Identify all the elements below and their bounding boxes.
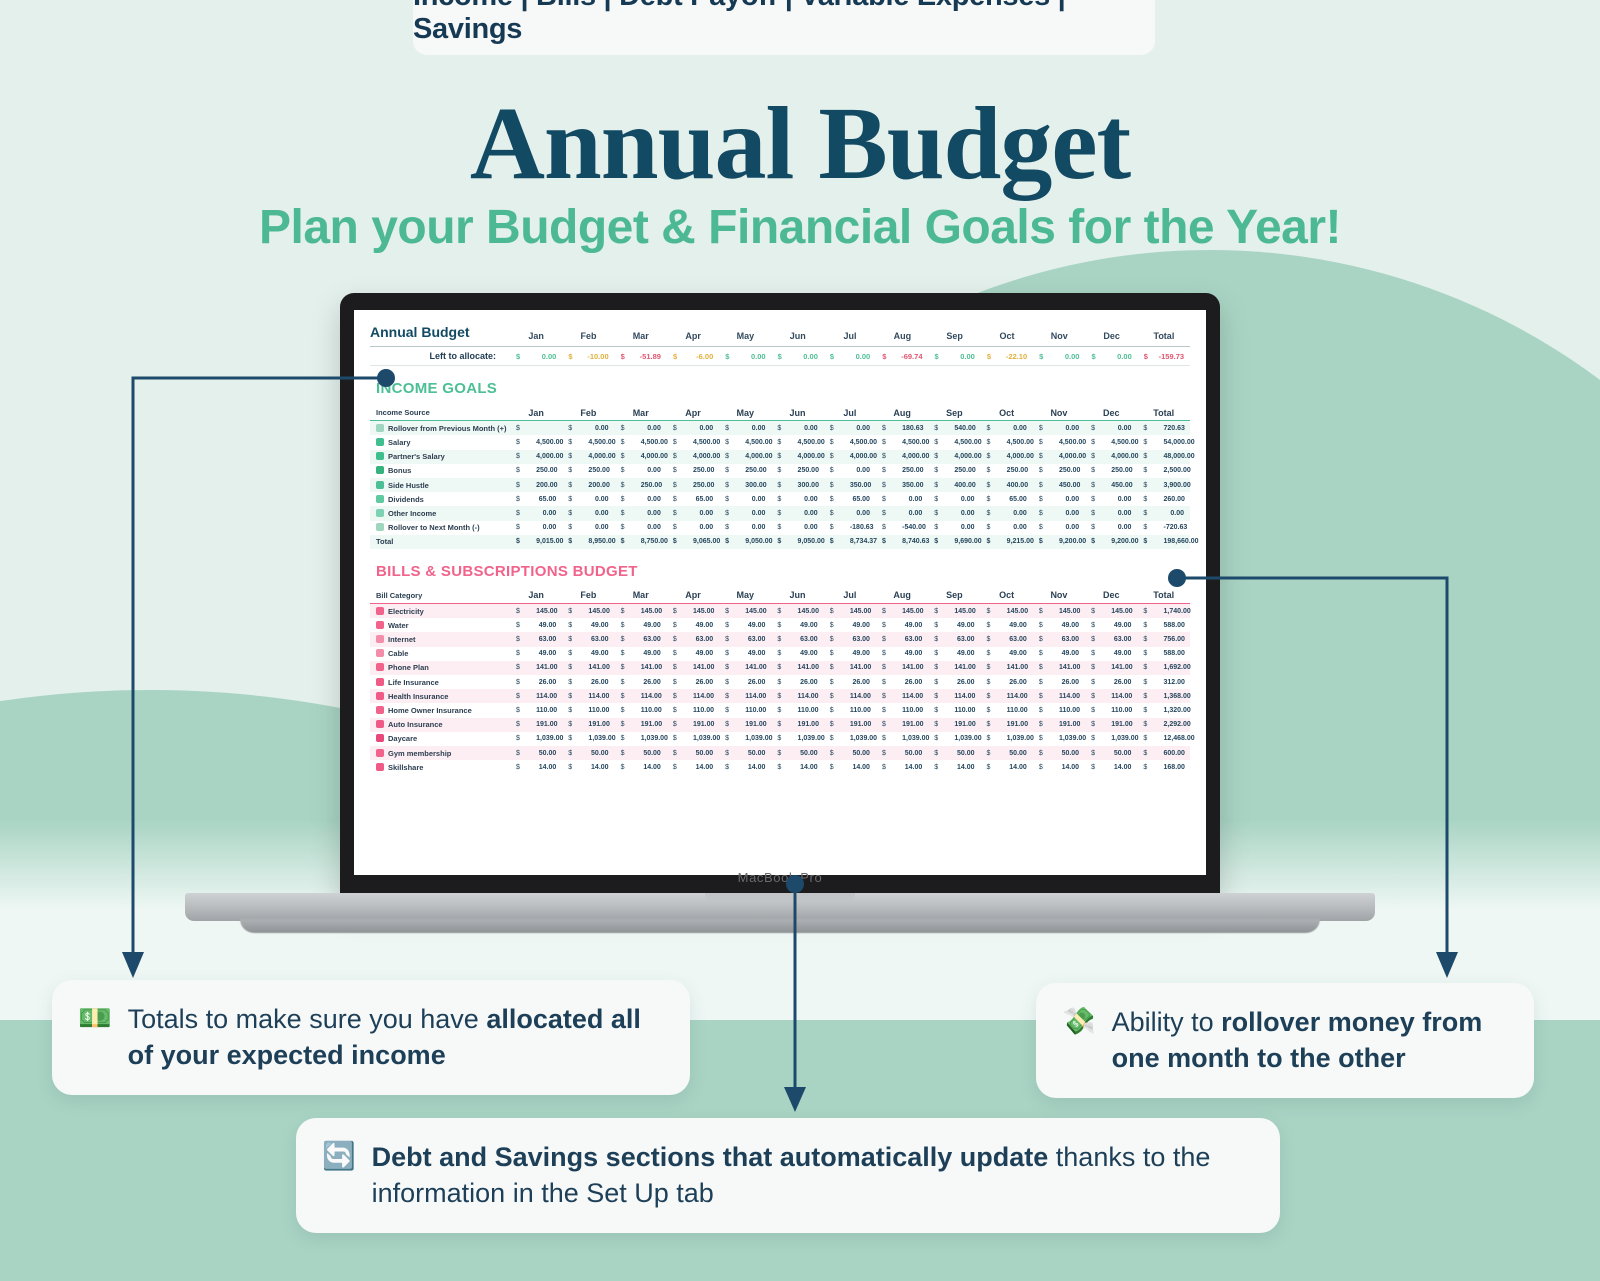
cell-feb[interactable]: 191.00 [588, 718, 614, 732]
cell-sep[interactable]: 400.00 [954, 478, 980, 492]
cell-aug[interactable]: 4,000.00 [902, 450, 928, 464]
cell-may[interactable]: 1,039.00 [745, 732, 771, 746]
cell-jul[interactable]: 14.00 [850, 760, 876, 774]
cell-aug[interactable]: 0.00 [902, 492, 928, 506]
cell-apr[interactable]: 1,039.00 [693, 732, 719, 746]
cell-may[interactable]: 191.00 [745, 718, 771, 732]
cell-sep[interactable]: 250.00 [954, 464, 980, 478]
cell-apr[interactable]: 4,000.00 [693, 450, 719, 464]
cell-nov[interactable]: 14.00 [1059, 760, 1085, 774]
cell-dec[interactable]: 4,500.00 [1111, 435, 1137, 449]
cell-aug[interactable]: 26.00 [902, 675, 928, 689]
cell-feb[interactable]: 0.00 [588, 506, 614, 520]
cell-oct[interactable]: 4,000.00 [1007, 450, 1033, 464]
cell-feb[interactable]: 0.00 [588, 421, 614, 436]
cell-mar[interactable]: 4,500.00 [641, 435, 667, 449]
cell-apr[interactable]: 9,065.00 [693, 535, 719, 549]
cell-feb[interactable]: 63.00 [588, 632, 614, 646]
cell-may[interactable]: 26.00 [745, 675, 771, 689]
cell-jun[interactable]: 114.00 [798, 689, 824, 703]
cell-total[interactable]: 168.00 [1164, 760, 1190, 774]
cell-may[interactable]: 49.00 [745, 618, 771, 632]
cell-jan[interactable]: 4,500.00 [536, 435, 562, 449]
cell-nov[interactable]: 450.00 [1059, 478, 1085, 492]
cell-feb[interactable]: 49.00 [588, 618, 614, 632]
cell-nov[interactable]: 0.00 [1059, 492, 1085, 506]
table-row[interactable]: Rollover to Next Month (-)$0.00$0.00$0.0… [370, 521, 1190, 535]
cell-total[interactable]: 312.00 [1164, 675, 1190, 689]
cell-jan[interactable]: 145.00 [536, 604, 562, 619]
cell-jul[interactable]: 50.00 [850, 746, 876, 760]
table-row[interactable]: Other Income$0.00$0.00$0.00$0.00$0.00$0.… [370, 506, 1190, 520]
table-row[interactable]: Bonus$250.00$250.00$0.00$250.00$250.00$2… [370, 464, 1190, 478]
cell-dec[interactable]: 0.00 [1111, 492, 1137, 506]
cell-total[interactable]: 1,320.00 [1164, 703, 1190, 717]
cell-aug[interactable]: 49.00 [902, 647, 928, 661]
cell-mar[interactable]: 50.00 [641, 746, 667, 760]
cell-apr[interactable]: 26.00 [693, 675, 719, 689]
cell-jun[interactable]: 0.00 [798, 506, 824, 520]
cell-oct[interactable]: 49.00 [1007, 618, 1033, 632]
cell-may[interactable]: 50.00 [745, 746, 771, 760]
table-row[interactable]: Daycare$1,039.00$1,039.00$1,039.00$1,039… [370, 732, 1190, 746]
cell-feb[interactable]: 26.00 [588, 675, 614, 689]
cell-aug[interactable]: -540.00 [902, 521, 928, 535]
table-row[interactable]: Life Insurance$26.00$26.00$26.00$26.00$2… [370, 675, 1190, 689]
cell-dec[interactable]: 145.00 [1111, 604, 1137, 619]
cell-jul[interactable]: 4,500.00 [850, 435, 876, 449]
cell-jan[interactable]: 0.00 [536, 521, 562, 535]
cell-jan[interactable]: 65.00 [536, 492, 562, 506]
cell-sep[interactable]: 9,690.00 [954, 535, 980, 549]
cell-may[interactable]: 145.00 [745, 604, 771, 619]
cell-apr[interactable]: 145.00 [693, 604, 719, 619]
cell-jun[interactable]: 141.00 [798, 661, 824, 675]
table-row[interactable]: Cable$49.00$49.00$49.00$49.00$49.00$49.0… [370, 647, 1190, 661]
cell-sep[interactable]: 114.00 [954, 689, 980, 703]
cell-apr[interactable]: 0.00 [693, 521, 719, 535]
cell-may[interactable]: 0.00 [745, 506, 771, 520]
cell-feb[interactable]: 114.00 [588, 689, 614, 703]
cell-aug[interactable]: 110.00 [902, 703, 928, 717]
cell-may[interactable]: 0.00 [745, 421, 771, 436]
cell-sep[interactable]: 1,039.00 [954, 732, 980, 746]
cell-total[interactable]: 1,692.00 [1164, 661, 1190, 675]
cell-dec[interactable]: 114.00 [1111, 689, 1137, 703]
cell-jun[interactable]: 110.00 [798, 703, 824, 717]
cell-nov[interactable]: 49.00 [1059, 618, 1085, 632]
currency-symbol: $ [876, 464, 902, 478]
cell-jun[interactable]: 49.00 [798, 647, 824, 661]
cell-mar[interactable]: 0.00 [641, 506, 667, 520]
cell-may[interactable]: 4,000.00 [745, 450, 771, 464]
cell-total[interactable]: 2,292.00 [1164, 718, 1190, 732]
cell-feb[interactable]: 4,000.00 [588, 450, 614, 464]
cell-nov[interactable]: 110.00 [1059, 703, 1085, 717]
cell-feb[interactable]: 0.00 [588, 521, 614, 535]
cell-oct[interactable]: 50.00 [1007, 746, 1033, 760]
cell-jun[interactable]: 145.00 [798, 604, 824, 619]
cell-aug[interactable]: 0.00 [902, 506, 928, 520]
cell-nov[interactable]: 250.00 [1059, 464, 1085, 478]
table-row[interactable]: Electricity$145.00$145.00$145.00$145.00$… [370, 604, 1190, 619]
table-row[interactable]: Auto Insurance$191.00$191.00$191.00$191.… [370, 718, 1190, 732]
cell-apr[interactable]: 63.00 [693, 632, 719, 646]
cell-jan[interactable]: 14.00 [536, 760, 562, 774]
cell-sep[interactable]: 0.00 [954, 492, 980, 506]
cell-apr[interactable]: 49.00 [693, 647, 719, 661]
cell-jan[interactable]: 49.00 [536, 618, 562, 632]
cell-jun[interactable]: 191.00 [798, 718, 824, 732]
cell-feb[interactable]: 8,950.00 [588, 535, 614, 549]
cell-apr[interactable]: 141.00 [693, 661, 719, 675]
cell-mar[interactable]: 0.00 [641, 492, 667, 506]
cell-jun[interactable]: 0.00 [798, 521, 824, 535]
table-row[interactable]: Rollover from Previous Month (+)$$0.00$0… [370, 421, 1190, 436]
cell-may[interactable]: 63.00 [745, 632, 771, 646]
cell-dec[interactable]: 49.00 [1111, 647, 1137, 661]
cell-total[interactable]: 54,000.00 [1164, 435, 1190, 449]
cell-feb[interactable]: 49.00 [588, 647, 614, 661]
cell-sep[interactable]: 191.00 [954, 718, 980, 732]
cell-jun[interactable]: 300.00 [798, 478, 824, 492]
table-row[interactable]: Skillshare$14.00$14.00$14.00$14.00$14.00… [370, 760, 1190, 774]
cell-oct[interactable]: 110.00 [1007, 703, 1033, 717]
cell-oct[interactable]: 0.00 [1007, 421, 1033, 436]
cell-aug[interactable]: 1,039.00 [902, 732, 928, 746]
cell-mar[interactable]: 0.00 [641, 521, 667, 535]
wallet-icon [376, 509, 384, 517]
cell-aug[interactable]: 50.00 [902, 746, 928, 760]
cell-mar[interactable]: 191.00 [641, 718, 667, 732]
cell-dec[interactable]: 191.00 [1111, 718, 1137, 732]
cell-total[interactable]: 2,500.00 [1164, 464, 1190, 478]
cell-jul[interactable]: 145.00 [850, 604, 876, 619]
cell-oct[interactable]: 0.00 [1007, 506, 1033, 520]
cell-mar[interactable]: 250.00 [641, 478, 667, 492]
table-row[interactable]: Internet$63.00$63.00$63.00$63.00$63.00$6… [370, 632, 1190, 646]
cell-oct[interactable]: 63.00 [1007, 632, 1033, 646]
cell-total[interactable]: 588.00 [1164, 647, 1190, 661]
cell-feb[interactable]: 141.00 [588, 661, 614, 675]
cell-jul[interactable]: 350.00 [850, 478, 876, 492]
table-row[interactable]: Side Hustle$200.00$200.00$250.00$250.00$… [370, 478, 1190, 492]
cell-jun[interactable]: 4,000.00 [798, 450, 824, 464]
cell-oct[interactable]: 191.00 [1007, 718, 1033, 732]
cell-may[interactable]: 0.00 [745, 521, 771, 535]
cell-may[interactable]: 114.00 [745, 689, 771, 703]
cell-nov[interactable]: 114.00 [1059, 689, 1085, 703]
cell-jan[interactable]: 4,000.00 [536, 450, 562, 464]
cell-feb[interactable]: 110.00 [588, 703, 614, 717]
cell-sep[interactable]: 50.00 [954, 746, 980, 760]
cell-apr[interactable]: 250.00 [693, 478, 719, 492]
cell-jun[interactable]: 1,039.00 [798, 732, 824, 746]
cell-aug[interactable]: 114.00 [902, 689, 928, 703]
cell-oct[interactable]: 49.00 [1007, 647, 1033, 661]
cell-jul[interactable]: 49.00 [850, 618, 876, 632]
cell-jun[interactable]: 250.00 [798, 464, 824, 478]
cell-may[interactable]: 49.00 [745, 647, 771, 661]
cell-sep[interactable]: 4,000.00 [954, 450, 980, 464]
cell-sep[interactable]: 540.00 [954, 421, 980, 436]
cell-mar[interactable]: 110.00 [641, 703, 667, 717]
cell-apr[interactable]: 191.00 [693, 718, 719, 732]
cell-dec[interactable]: 0.00 [1111, 521, 1137, 535]
cell-may[interactable]: 141.00 [745, 661, 771, 675]
cell-oct[interactable]: 26.00 [1007, 675, 1033, 689]
cell-may[interactable]: 4,500.00 [745, 435, 771, 449]
cell-jun[interactable]: 9,050.00 [798, 535, 824, 549]
cell-mar[interactable]: 4,000.00 [641, 450, 667, 464]
cell-jan[interactable]: 63.00 [536, 632, 562, 646]
cell-sep[interactable]: 110.00 [954, 703, 980, 717]
cell-nov[interactable]: 50.00 [1059, 746, 1085, 760]
cell-jun[interactable]: 50.00 [798, 746, 824, 760]
cell-aug[interactable]: 191.00 [902, 718, 928, 732]
currency-symbol: $ [719, 421, 745, 436]
cell-jun[interactable]: 26.00 [798, 675, 824, 689]
cell-nov[interactable]: 0.00 [1059, 421, 1085, 436]
cell-jul[interactable]: 0.00 [850, 421, 876, 436]
cell-jan[interactable] [536, 421, 562, 436]
table-row[interactable]: Water$49.00$49.00$49.00$49.00$49.00$49.0… [370, 618, 1190, 632]
cell-jul[interactable]: 0.00 [850, 464, 876, 478]
cell-dec[interactable]: 0.00 [1111, 506, 1137, 520]
cell-jan[interactable]: 110.00 [536, 703, 562, 717]
cell-jul[interactable]: 8,734.37 [850, 535, 876, 549]
cell-may[interactable]: 300.00 [745, 478, 771, 492]
cell-sep[interactable]: 141.00 [954, 661, 980, 675]
cell-jul[interactable]: 0.00 [850, 506, 876, 520]
cell-dec[interactable]: 63.00 [1111, 632, 1137, 646]
cell-may[interactable]: 250.00 [745, 464, 771, 478]
table-row[interactable]: Health Insurance$114.00$114.00$114.00$11… [370, 689, 1190, 703]
table-row[interactable]: Gym membership$50.00$50.00$50.00$50.00$5… [370, 746, 1190, 760]
cell-dec[interactable]: 1,039.00 [1111, 732, 1137, 746]
cell-total[interactable]: 198,660.00 [1164, 535, 1190, 549]
cell-nov[interactable]: 26.00 [1059, 675, 1085, 689]
cell-feb[interactable]: 50.00 [588, 746, 614, 760]
cell-mar[interactable]: 49.00 [641, 618, 667, 632]
cell-apr[interactable]: 65.00 [693, 492, 719, 506]
cell-oct[interactable]: 65.00 [1007, 492, 1033, 506]
cell-mar[interactable]: 8,750.00 [641, 535, 667, 549]
cell-apr[interactable]: 114.00 [693, 689, 719, 703]
cell-total[interactable]: 3,900.00 [1164, 478, 1190, 492]
cell-oct[interactable]: 114.00 [1007, 689, 1033, 703]
cell-jul[interactable]: 63.00 [850, 632, 876, 646]
cell-dec[interactable]: 49.00 [1111, 618, 1137, 632]
cell-apr[interactable]: 0.00 [693, 506, 719, 520]
cell-may[interactable]: 14.00 [745, 760, 771, 774]
cell-jul[interactable]: 141.00 [850, 661, 876, 675]
cell-dec[interactable]: 50.00 [1111, 746, 1137, 760]
cell-mar[interactable]: 26.00 [641, 675, 667, 689]
cell-jul[interactable]: 65.00 [850, 492, 876, 506]
cell-sep[interactable]: 49.00 [954, 618, 980, 632]
cell-dec[interactable]: 4,000.00 [1111, 450, 1137, 464]
cell-total[interactable]: 1,368.00 [1164, 689, 1190, 703]
cell-aug[interactable]: 14.00 [902, 760, 928, 774]
cell-feb[interactable]: 145.00 [588, 604, 614, 619]
cell-aug[interactable]: 250.00 [902, 464, 928, 478]
cell-dec[interactable]: 110.00 [1111, 703, 1137, 717]
cell-feb[interactable]: 1,039.00 [588, 732, 614, 746]
cell-mar[interactable]: 114.00 [641, 689, 667, 703]
cell-may[interactable]: 110.00 [745, 703, 771, 717]
table-row[interactable]: Salary$4,500.00$4,500.00$4,500.00$4,500.… [370, 435, 1190, 449]
cell-apr[interactable]: 110.00 [693, 703, 719, 717]
cell-mar[interactable]: 141.00 [641, 661, 667, 675]
cell-aug[interactable]: 145.00 [902, 604, 928, 619]
cell-jan[interactable]: 50.00 [536, 746, 562, 760]
cell-nov[interactable]: 4,000.00 [1059, 450, 1085, 464]
currency-symbol: $ [824, 521, 850, 535]
cell-oct[interactable]: 0.00 [1007, 521, 1033, 535]
cell-jun[interactable]: 63.00 [798, 632, 824, 646]
cell-total[interactable]: 260.00 [1164, 492, 1190, 506]
cell-apr[interactable]: 0.00 [693, 421, 719, 436]
cell-mar[interactable]: 1,039.00 [641, 732, 667, 746]
cell-apr[interactable]: 250.00 [693, 464, 719, 478]
cell-aug[interactable]: 350.00 [902, 478, 928, 492]
cell-total[interactable]: 588.00 [1164, 618, 1190, 632]
cell-dec[interactable]: 450.00 [1111, 478, 1137, 492]
cell-nov[interactable]: 49.00 [1059, 647, 1085, 661]
cell-total[interactable]: 0.00 [1164, 506, 1190, 520]
cell-aug[interactable]: 4,500.00 [902, 435, 928, 449]
currency-symbol: $ [1137, 746, 1163, 760]
cell-jul[interactable]: 26.00 [850, 675, 876, 689]
cell-feb[interactable]: 4,500.00 [588, 435, 614, 449]
cell-jun[interactable]: 4,500.00 [798, 435, 824, 449]
table-row[interactable]: Phone Plan$141.00$141.00$141.00$141.00$1… [370, 661, 1190, 675]
cell-aug[interactable]: 180.63 [902, 421, 928, 436]
cell-total[interactable]: 12,468.00 [1164, 732, 1190, 746]
cell-jan[interactable]: 250.00 [536, 464, 562, 478]
cell-sep[interactable]: 14.00 [954, 760, 980, 774]
cell-sep[interactable]: 145.00 [954, 604, 980, 619]
cell-jul[interactable]: 49.00 [850, 647, 876, 661]
cell-nov[interactable]: 191.00 [1059, 718, 1085, 732]
cell-aug[interactable]: 63.00 [902, 632, 928, 646]
cell-mar[interactable]: 145.00 [641, 604, 667, 619]
cell-apr[interactable]: 4,500.00 [693, 435, 719, 449]
cell-jul[interactable]: 1,039.00 [850, 732, 876, 746]
cell-nov[interactable]: 0.00 [1059, 506, 1085, 520]
cell-jan[interactable]: 49.00 [536, 647, 562, 661]
cell-oct[interactable]: 250.00 [1007, 464, 1033, 478]
cell-apr[interactable]: 50.00 [693, 746, 719, 760]
cell-feb[interactable]: 250.00 [588, 464, 614, 478]
cell-jul[interactable]: 4,000.00 [850, 450, 876, 464]
cell-dec[interactable]: 250.00 [1111, 464, 1137, 478]
cell-feb[interactable]: 0.00 [588, 492, 614, 506]
cell-dec[interactable]: 0.00 [1111, 421, 1137, 436]
cell-mar[interactable]: 63.00 [641, 632, 667, 646]
cell-nov[interactable]: 9,200.00 [1059, 535, 1085, 549]
cell-total[interactable]: 48,000.00 [1164, 450, 1190, 464]
cell-aug[interactable]: 8,740.63 [902, 535, 928, 549]
cell-jun[interactable]: 0.00 [798, 421, 824, 436]
cell-mar[interactable]: 49.00 [641, 647, 667, 661]
cell-mar[interactable]: 0.00 [641, 464, 667, 478]
cell-total[interactable]: -720.63 [1164, 521, 1190, 535]
cell-may[interactable]: 0.00 [745, 492, 771, 506]
cell-apr[interactable]: 14.00 [693, 760, 719, 774]
cell-sep[interactable]: 4,500.00 [954, 435, 980, 449]
table-row[interactable]: Dividends$65.00$0.00$0.00$65.00$0.00$0.0… [370, 492, 1190, 506]
table-row[interactable]: Home Owner Insurance$110.00$110.00$110.0… [370, 703, 1190, 717]
cell-nov[interactable]: 0.00 [1059, 521, 1085, 535]
cell-jul[interactable]: 191.00 [850, 718, 876, 732]
cell-oct[interactable]: 1,039.00 [1007, 732, 1033, 746]
cell-oct[interactable]: 400.00 [1007, 478, 1033, 492]
cell-feb[interactable]: 200.00 [588, 478, 614, 492]
cell-sep[interactable]: 63.00 [954, 632, 980, 646]
cell-nov[interactable]: 1,039.00 [1059, 732, 1085, 746]
cell-dec[interactable]: 26.00 [1111, 675, 1137, 689]
cell-oct[interactable]: 4,500.00 [1007, 435, 1033, 449]
cell-jul[interactable]: -180.63 [850, 521, 876, 535]
cell-jan[interactable]: 1,039.00 [536, 732, 562, 746]
column-header-sep: Sep [928, 405, 980, 421]
cell-nov[interactable]: 4,500.00 [1059, 435, 1085, 449]
cell-jan[interactable]: 191.00 [536, 718, 562, 732]
cell-oct[interactable]: 9,215.00 [1007, 535, 1033, 549]
cell-jan[interactable]: 141.00 [536, 661, 562, 675]
cell-oct[interactable]: 145.00 [1007, 604, 1033, 619]
cell-nov[interactable]: 141.00 [1059, 661, 1085, 675]
cell-total[interactable]: 1,740.00 [1164, 604, 1190, 619]
cell-jul[interactable]: 110.00 [850, 703, 876, 717]
cell-dec[interactable]: 141.00 [1111, 661, 1137, 675]
cell-dec[interactable]: 14.00 [1111, 760, 1137, 774]
cell-jan[interactable]: 9,015.00 [536, 535, 562, 549]
cell-apr[interactable]: 49.00 [693, 618, 719, 632]
cell-nov[interactable]: 63.00 [1059, 632, 1085, 646]
cell-total[interactable]: 720.63 [1164, 421, 1190, 436]
cell-total[interactable]: 756.00 [1164, 632, 1190, 646]
cell-jan[interactable]: 200.00 [536, 478, 562, 492]
cell-dec[interactable]: 9,200.00 [1111, 535, 1137, 549]
cell-sep[interactable]: 0.00 [954, 521, 980, 535]
cell-feb[interactable]: 14.00 [588, 760, 614, 774]
cell-sep[interactable]: 0.00 [954, 506, 980, 520]
cell-aug[interactable]: 49.00 [902, 618, 928, 632]
cell-jun[interactable]: 49.00 [798, 618, 824, 632]
cell-jul[interactable]: 114.00 [850, 689, 876, 703]
cell-jan[interactable]: 114.00 [536, 689, 562, 703]
cell-sep[interactable]: 26.00 [954, 675, 980, 689]
cell-aug[interactable]: 141.00 [902, 661, 928, 675]
cell-mar[interactable]: 0.00 [641, 421, 667, 436]
cell-oct[interactable]: 141.00 [1007, 661, 1033, 675]
cell-sep[interactable]: 49.00 [954, 647, 980, 661]
chart-icon [376, 495, 384, 503]
table-row[interactable]: Partner's Salary$4,000.00$4,000.00$4,000… [370, 450, 1190, 464]
cell-jun[interactable]: 0.00 [798, 492, 824, 506]
cell-nov[interactable]: 145.00 [1059, 604, 1085, 619]
cell-jan[interactable]: 26.00 [536, 675, 562, 689]
cell-oct[interactable]: 14.00 [1007, 760, 1033, 774]
cell-total[interactable]: 600.00 [1164, 746, 1190, 760]
cell-mar[interactable]: 14.00 [641, 760, 667, 774]
cell-jun[interactable]: 14.00 [798, 760, 824, 774]
cell-jan[interactable]: 0.00 [536, 506, 562, 520]
cell-may[interactable]: 9,050.00 [745, 535, 771, 549]
